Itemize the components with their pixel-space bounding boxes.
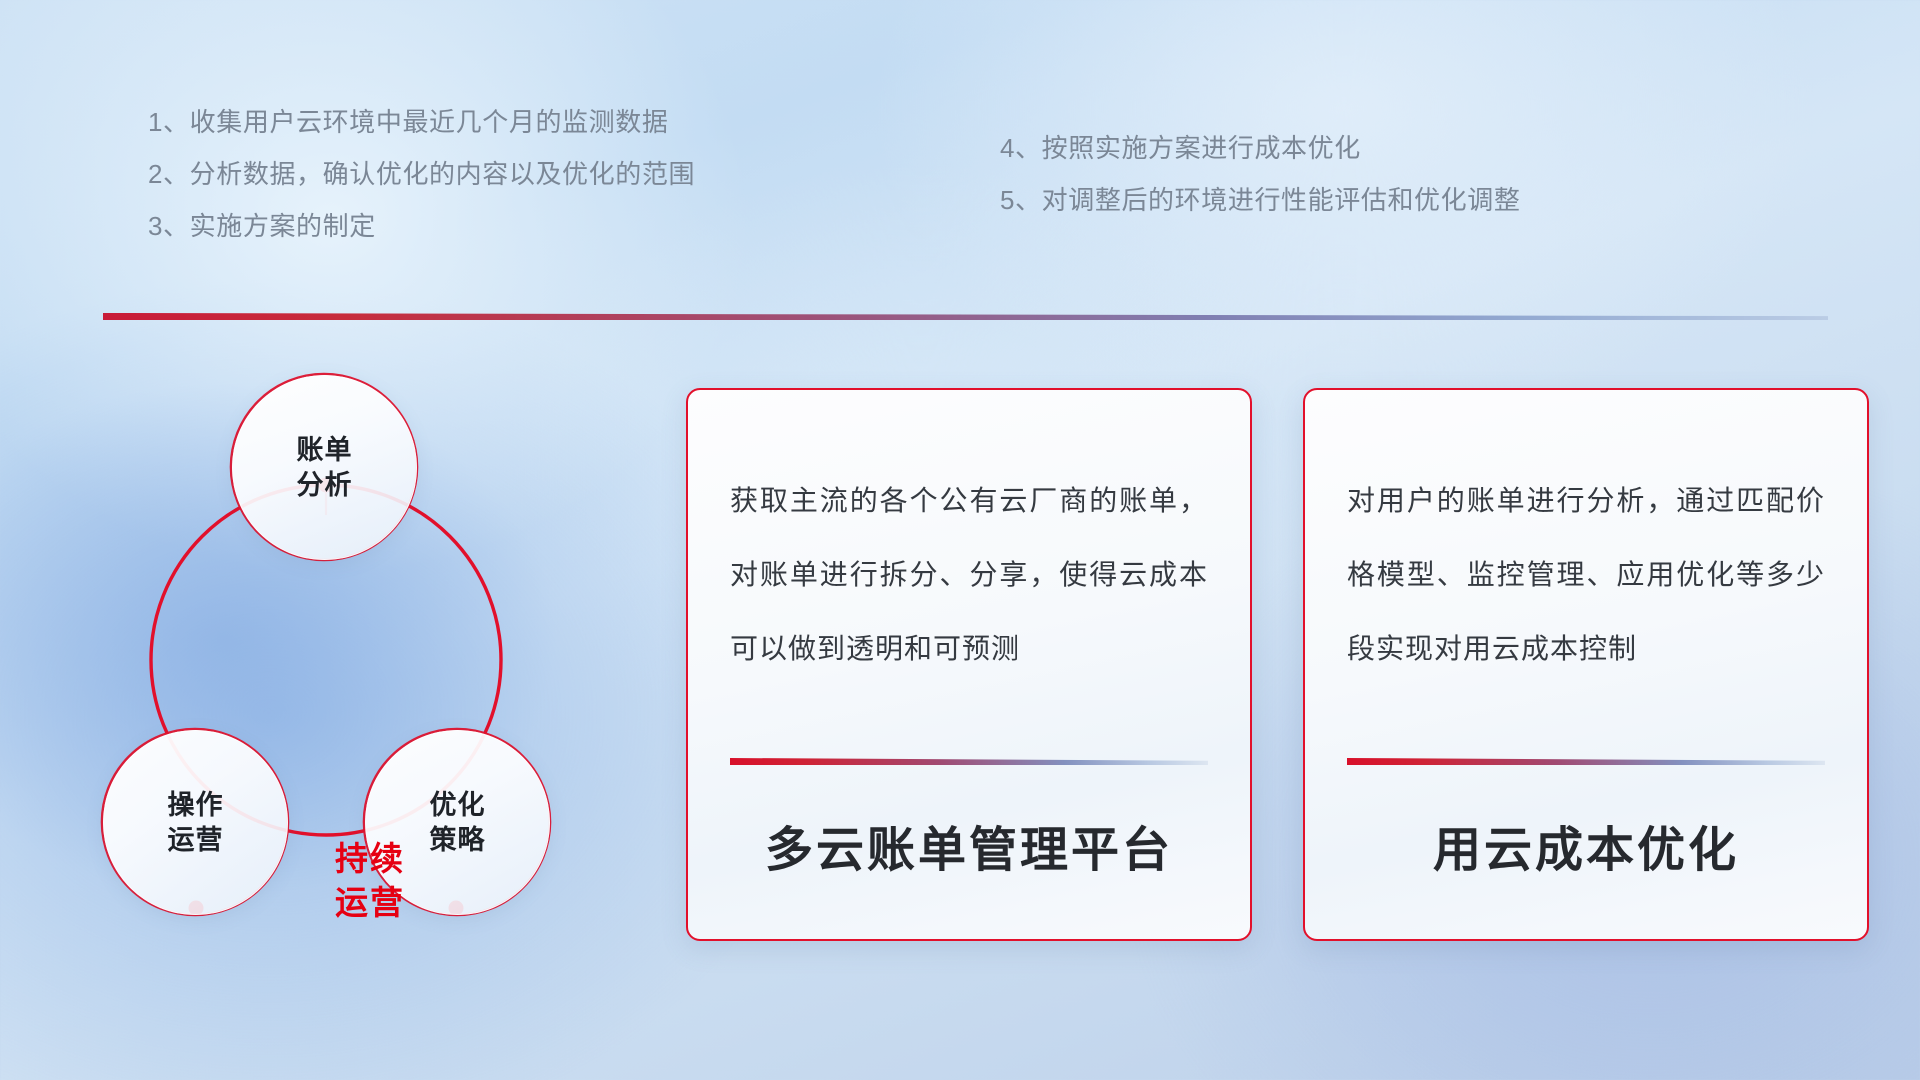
step-item-3: 3、实施方案的制定 xyxy=(148,200,695,252)
card-title: 用云成本优化 xyxy=(1305,810,1867,880)
venn-center-label-line-2: 运营 xyxy=(270,881,470,925)
card-cloud-cost-optimization[interactable]: 对用户的账单进行分析，通过匹配价格模型、监控管理、应用优化等多少段实现对用云成本… xyxy=(1303,388,1869,941)
steps-column-right: 4、按照实施方案进行成本优化 5、对调整后的环境进行性能评估和优化调整 xyxy=(1000,122,1520,226)
continuous-operation-venn-diagram: 账单 分析 操作 运营 优化 策略 持续 运营 xyxy=(95,355,635,935)
card-title: 多云账单管理平台 xyxy=(688,810,1250,880)
venn-bubble-line-2: 运营 xyxy=(168,823,224,858)
step-item-5: 5、对调整后的环境进行性能评估和优化调整 xyxy=(1000,174,1520,226)
venn-bubble-billing-analysis[interactable]: 账单 分析 xyxy=(232,375,417,560)
venn-center-label-line-1: 持续 xyxy=(270,837,470,881)
venn-bubble-line-2: 分析 xyxy=(297,468,353,503)
card-body-text: 获取主流的各个公有云厂商的账单，对账单进行拆分、分享，使得云成本可以做到透明和可… xyxy=(688,390,1250,686)
venn-center-label: 持续 运营 xyxy=(270,837,470,924)
venn-bubble-line-1: 操作 xyxy=(168,788,224,823)
venn-bubble-line-1: 账单 xyxy=(297,433,353,468)
card-accent-rule xyxy=(1347,758,1825,765)
steps-column-left: 1、收集用户云环境中最近几个月的监测数据 2、分析数据，确认优化的内容以及优化的… xyxy=(148,96,695,252)
card-body-text: 对用户的账单进行分析，通过匹配价格模型、监控管理、应用优化等多少段实现对用云成本… xyxy=(1305,390,1867,686)
step-item-1: 1、收集用户云环境中最近几个月的监测数据 xyxy=(148,96,695,148)
card-accent-rule xyxy=(730,758,1208,765)
step-item-2: 2、分析数据，确认优化的内容以及优化的范围 xyxy=(148,148,695,200)
section-divider xyxy=(103,313,1828,320)
step-item-4: 4、按照实施方案进行成本优化 xyxy=(1000,122,1520,174)
card-multi-cloud-billing-platform[interactable]: 获取主流的各个公有云厂商的账单，对账单进行拆分、分享，使得云成本可以做到透明和可… xyxy=(686,388,1252,941)
venn-bubble-line-1: 优化 xyxy=(430,788,486,823)
venn-bubble-operations[interactable]: 操作 运营 xyxy=(103,730,288,915)
